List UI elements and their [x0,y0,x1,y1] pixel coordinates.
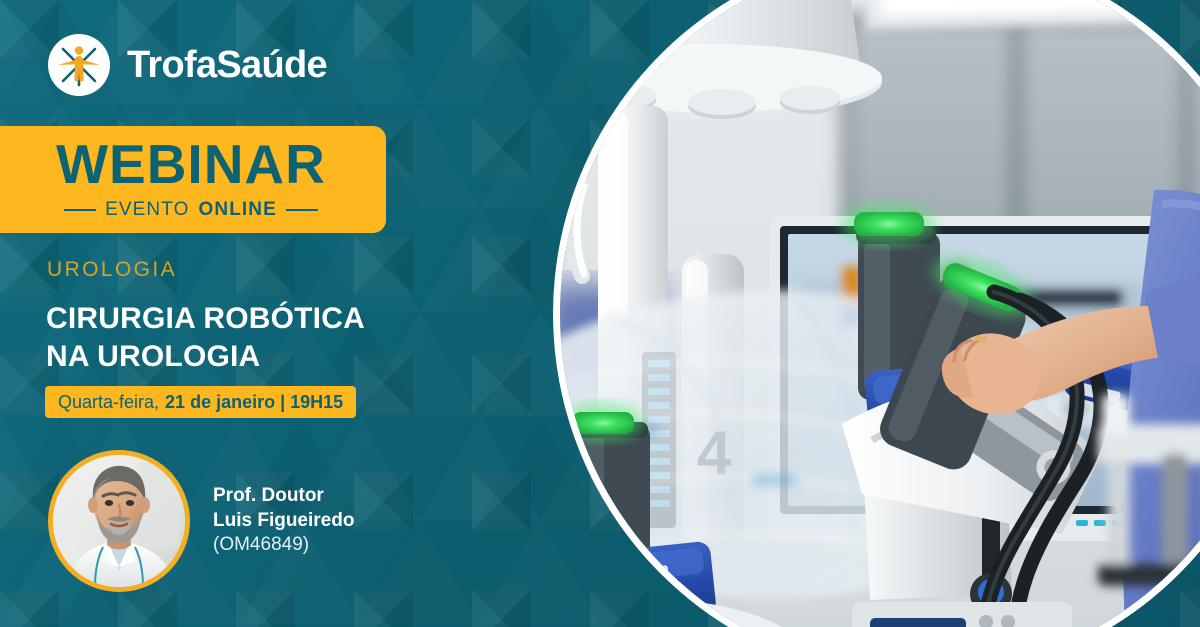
event-date-badge: Quarta-feira, 21 de janeiro | 19H15 [45,386,356,418]
speaker-block: Prof. Doutor Luis Figueiredo (OM46849) [48,450,354,592]
specialty-eyebrow: UROLOGIA [47,259,177,280]
event-weekday: Quarta-feira, [58,392,159,413]
webinar-title: WEBINAR [56,137,326,192]
robotic-surgery-illustration: 4 [560,0,1200,627]
event-date-time: 21 de janeiro | 19H15 [165,392,343,413]
webinar-badge: WEBINAR EVENTO ONLINE [0,126,386,233]
subtitle-online: ONLINE [199,199,277,221]
subtitle-evento: EVENTO [105,199,189,221]
trofa-star-person-icon [48,34,110,96]
webinar-subtitle: EVENTO ONLINE [64,199,318,221]
speaker-registration: (OM46849) [213,533,354,558]
subtitle-dash-right [286,209,318,211]
webinar-banner-graphic: 4 [0,0,1200,627]
page-title: CIRURGIA ROBÓTICA NA UROLOGIA [46,300,365,377]
subtitle-dash-left [64,209,96,211]
headline-line-2: NA UROLOGIA [46,338,365,376]
brand-logo[interactable]: TrofaSaúde [48,34,327,96]
headline-line-1: CIRURGIA ROBÓTICA [46,300,365,338]
avatar [48,450,190,592]
speaker-title: Prof. Doutor [213,484,354,509]
brand-name: TrofaSaúde [127,46,327,84]
hero-photo-clip: 4 [560,0,1200,627]
speaker-name: Luis Figueiredo [213,509,354,534]
speaker-details: Prof. Doutor Luis Figueiredo (OM46849) [213,484,354,558]
hero-photo: 4 [560,0,1200,627]
speaker-portrait [53,455,185,587]
